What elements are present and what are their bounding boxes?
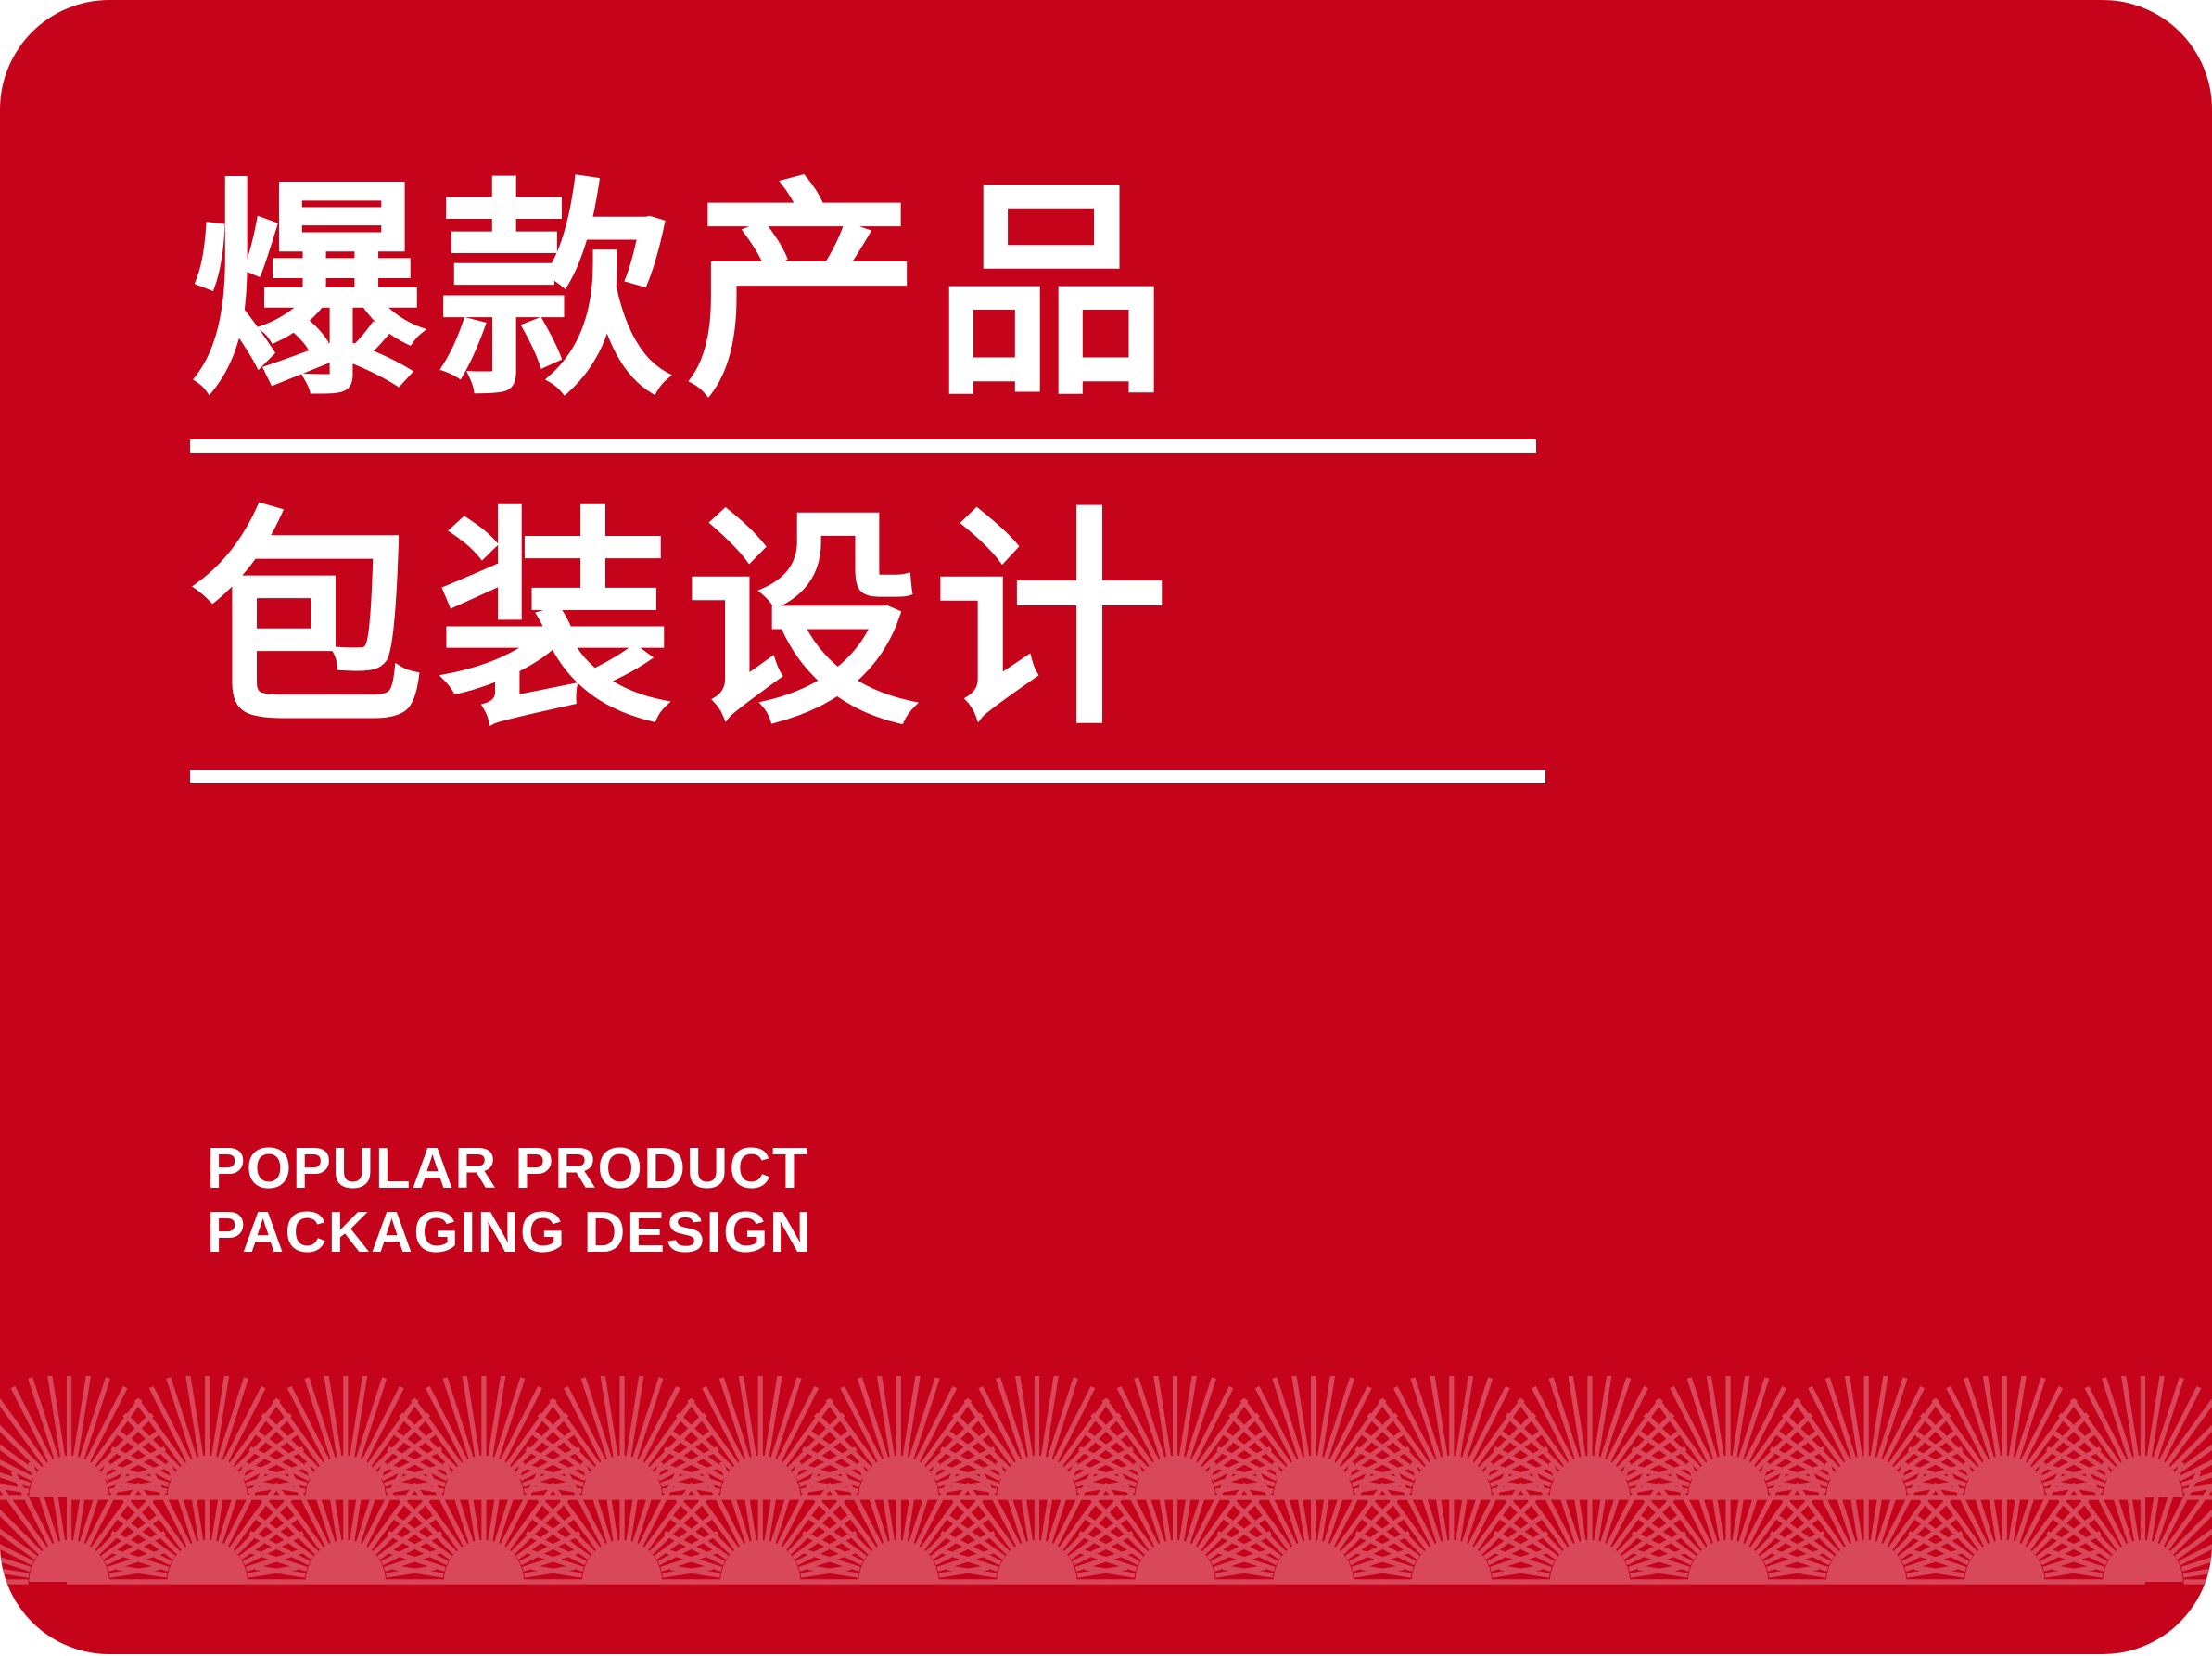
- red-card-background: 爆款产品 包装设计 POPULAR PRODUCT PACKAGING DESI…: [0, 0, 2212, 1654]
- divider-rule-top: [190, 439, 1536, 453]
- subheadline-english-line-2: PACKAGING DESIGN: [207, 1201, 812, 1265]
- headline-chinese-line-1: 爆款产品: [190, 178, 1608, 408]
- headline-chinese-line-2: 包装设计: [190, 507, 1608, 737]
- sunburst-row-2: [0, 1455, 2212, 1582]
- divider-rule-bottom: [190, 770, 1545, 783]
- subheadline-english-line-1: POPULAR PRODUCT: [207, 1137, 812, 1201]
- headline-block: 爆款产品 包装设计: [190, 178, 1581, 783]
- subheadline-block: POPULAR PRODUCT PACKAGING DESIGN: [207, 1137, 812, 1266]
- sunburst-ornament-band: [0, 1376, 2212, 1654]
- sunburst-pattern-icon: [0, 1376, 2212, 1654]
- poster-canvas: 爆款产品 包装设计 POPULAR PRODUCT PACKAGING DESI…: [0, 0, 2212, 1656]
- sunburst-row-1: [0, 1376, 2212, 1497]
